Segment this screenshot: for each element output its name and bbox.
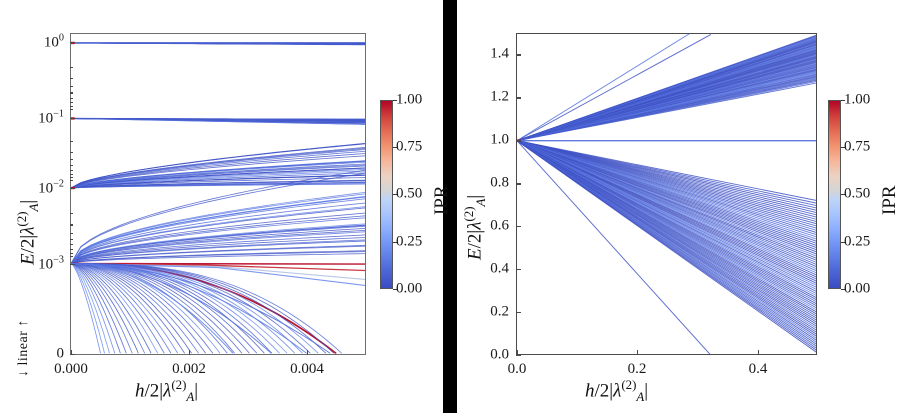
left-colorbar — [380, 100, 393, 289]
left-ytitle-bar2: | — [17, 200, 38, 204]
left-ytitle-sub: A — [26, 204, 41, 212]
right-ytick-label-6: 1.2 — [457, 89, 509, 106]
right-ytick-label-4: 0.8 — [457, 175, 509, 192]
left-y-minortick-1-2 — [70, 141, 73, 142]
left-ytick-label-0: 0 — [2, 346, 64, 363]
left-y-minortick-0-7 — [70, 102, 73, 103]
left-colorbar-label-1: 1.00 — [396, 92, 422, 109]
figure-root: 100 10−1 10−2 10−3 0 0.000 0.002 0.004 E… — [0, 0, 897, 413]
right-colorbar-label-075: 0.75 — [844, 139, 870, 156]
right-ytick-label-7: 1.4 — [457, 46, 509, 63]
left-colorbar-label-025: 0.25 — [396, 234, 422, 251]
right-colorbar-label-025: 0.25 — [844, 234, 870, 251]
left-ytitle-lambda: λ — [17, 227, 38, 235]
right-y-tick-7 — [516, 54, 521, 55]
right-y-tick-6 — [516, 97, 521, 98]
right-x-tick-1 — [637, 350, 638, 355]
left-y-minortick-1-5 — [70, 165, 73, 166]
left-y-minortick-0-2 — [70, 67, 73, 68]
plot-area-left — [70, 33, 366, 355]
right-ytitle-bar2: | — [464, 195, 485, 199]
left-y-minortick-2-4 — [70, 233, 73, 234]
left-ytitle-slash2: /2 — [17, 239, 38, 254]
right-xtick-label-1: 0.2 — [628, 361, 647, 378]
left-y-minortick-2-5 — [70, 239, 73, 240]
down-arrow-icon: ↓ — [16, 370, 31, 378]
left-y-minortick-1-3 — [70, 152, 73, 153]
left-y-minortick-0-5 — [70, 92, 73, 93]
right-colorbar-label-000: 0.00 — [844, 281, 870, 298]
left-y-minortick-0-4 — [70, 86, 73, 87]
right-ytitle-bar1: | — [464, 230, 485, 234]
left-xtick-label-0: 0.000 — [54, 361, 88, 378]
up-arrow-icon: ↑ — [16, 319, 31, 327]
right-ytick-label-0: 0.0 — [457, 347, 509, 364]
left-y-minortick-2-9 — [70, 256, 73, 257]
left-xtick-label-1: 0.002 — [172, 361, 206, 378]
right-xtick-label-2: 0.4 — [749, 361, 768, 378]
left-x-tick-2 — [307, 350, 308, 355]
panel-left: 100 10−1 10−2 10−3 0 0.000 0.002 0.004 E… — [0, 0, 443, 413]
right-xtitle-h: h — [585, 380, 595, 401]
right-x-tick-2 — [758, 350, 759, 355]
left-y-minortick-2-2 — [70, 213, 73, 214]
right-colorbar-title: IPR — [879, 185, 897, 215]
right-ytitle-lambda: λ — [464, 222, 485, 230]
right-ytitle-E: E — [464, 248, 485, 260]
right-y-tick-5 — [516, 140, 521, 141]
right-ytick-label-5: 1.0 — [457, 132, 509, 149]
left-y-tick-0 — [70, 42, 75, 43]
right-ytick-label-2: 0.4 — [457, 261, 509, 278]
left-colorbar-label-000: 0.00 — [396, 281, 422, 298]
right-ytitle-sup: (2) — [461, 207, 476, 222]
left-y-axis-title: E/2|λ(2)A| — [14, 200, 42, 265]
left-y-minortick-2-7 — [70, 249, 73, 250]
left-y-tick-2 — [70, 188, 75, 189]
right-colorbar-label-050: 0.50 — [844, 186, 870, 203]
right-xtitle-sup: (2) — [621, 377, 636, 392]
left-plot-lines — [71, 34, 365, 354]
right-ytick-label-1: 0.2 — [457, 304, 509, 321]
left-y-tick-3 — [70, 264, 75, 265]
right-x-axis-title: h/2|λ(2)A| — [585, 377, 648, 405]
left-y-minortick-1-4 — [70, 159, 73, 160]
left-x-tick-1 — [189, 350, 190, 355]
left-ytitle-bar1: | — [17, 235, 38, 239]
right-ytitle-slash2: /2 — [464, 234, 485, 249]
left-ytitle-E: E — [17, 253, 38, 265]
right-y-tick-0 — [516, 355, 521, 356]
left-x-axis-title: h/2|λ(2)A| — [135, 377, 198, 405]
left-y-tick-1 — [70, 118, 75, 119]
panel-right: 0.00.20.40.60.81.01.21.4 0.0 0.2 0.4 E/2… — [457, 0, 897, 413]
right-ytitle-sub: A — [473, 199, 488, 207]
left-x-tick-0 — [71, 350, 72, 355]
left-y-minortick-1-6 — [70, 170, 73, 171]
left-linear-scale-annotation: ↓ linear ↑ — [16, 319, 32, 377]
left-xtitle-bar2: | — [194, 380, 198, 401]
right-y-tick-1 — [516, 312, 521, 313]
left-xtick-label-2: 0.004 — [290, 361, 324, 378]
right-colorbar-label-1: 1.00 — [844, 92, 870, 109]
left-xtitle-slash2: /2 — [145, 380, 160, 401]
right-y-tick-2 — [516, 269, 521, 270]
plot-area-right — [516, 33, 817, 355]
right-xtitle-slash2: /2 — [595, 380, 610, 401]
left-colorbar-title: IPR — [431, 185, 453, 215]
left-xtitle-sup: (2) — [171, 377, 186, 392]
left-colorbar-label-050: 0.50 — [396, 186, 422, 203]
left-y-minortick-0-6 — [70, 98, 73, 99]
right-plot-lines — [517, 34, 816, 354]
left-y-minortick-0-9 — [70, 109, 73, 110]
left-y-minortick-0-3 — [70, 78, 73, 79]
left-y-minortick-2-6 — [70, 244, 73, 245]
right-y-axis-title: E/2|λ(2)A| — [461, 195, 489, 260]
right-x-tick-0 — [517, 350, 518, 355]
left-ytick-label-1e0: 100 — [2, 33, 64, 52]
left-xtitle-h: h — [135, 380, 145, 401]
left-y-minortick-0-8 — [70, 106, 73, 107]
linear-annotation-text: linear — [16, 331, 31, 366]
left-ytitle-sup: (2) — [14, 212, 29, 227]
right-xtick-label-0: 0.0 — [508, 361, 527, 378]
left-ytick-label-1e-1: 10−1 — [2, 109, 64, 128]
left-y-minortick-2-3 — [70, 224, 73, 225]
left-colorbar-label-075: 0.75 — [396, 139, 422, 156]
right-xtitle-bar2: | — [644, 380, 648, 401]
left-ytick-label-1e-2: 10−2 — [2, 179, 64, 198]
right-y-tick-4 — [516, 183, 521, 184]
right-y-tick-3 — [516, 226, 521, 227]
left-y-minortick-1-9 — [70, 180, 73, 181]
left-y-minortick-2-8 — [70, 253, 73, 254]
left-y-minortick-1-7 — [70, 174, 73, 175]
left-y-minortick-1-8 — [70, 177, 73, 178]
right-colorbar — [828, 100, 841, 289]
